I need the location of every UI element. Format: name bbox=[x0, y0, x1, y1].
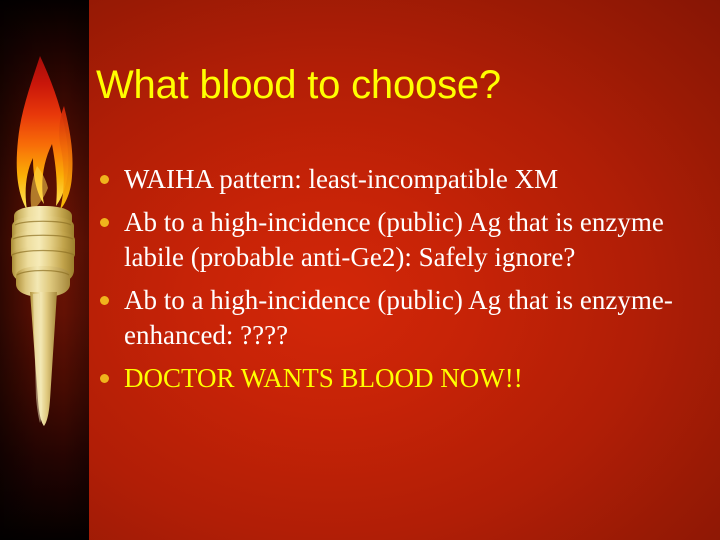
list-item-text: DOCTOR WANTS BLOOD NOW!! bbox=[124, 361, 696, 396]
bullet-dot-icon bbox=[100, 374, 109, 383]
list-item: WAIHA pattern: least-incompatible XM bbox=[96, 162, 696, 197]
slide: What blood to choose? WAIHA pattern: lea… bbox=[0, 0, 720, 540]
list-item: Ab to a high-incidence (public) Ag that … bbox=[96, 205, 696, 275]
page-title: What blood to choose? bbox=[96, 62, 696, 108]
list-item-text: Ab to a high-incidence (public) Ag that … bbox=[124, 283, 696, 353]
bullet-dot-icon bbox=[100, 218, 109, 227]
bullet-dot-icon bbox=[100, 175, 109, 184]
list-item-text: WAIHA pattern: least-incompatible XM bbox=[124, 162, 696, 197]
bullet-dot-icon bbox=[100, 296, 109, 305]
bullet-list: WAIHA pattern: least-incompatible XM Ab … bbox=[96, 162, 696, 396]
list-item-emphasis: DOCTOR WANTS BLOOD NOW!! bbox=[96, 361, 696, 396]
list-item-text: Ab to a high-incidence (public) Ag that … bbox=[124, 205, 696, 275]
list-item: Ab to a high-incidence (public) Ag that … bbox=[96, 283, 696, 353]
torch-graphic bbox=[0, 48, 92, 438]
